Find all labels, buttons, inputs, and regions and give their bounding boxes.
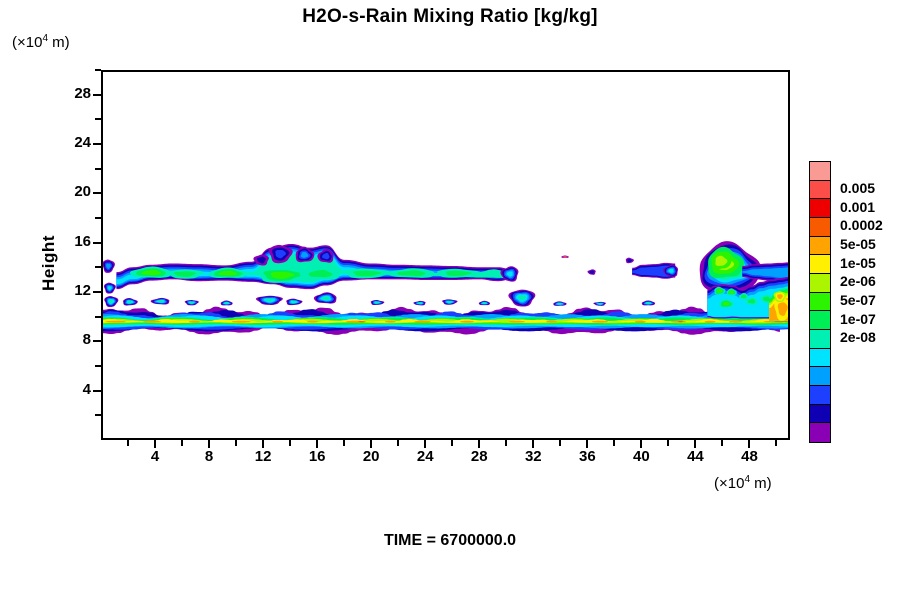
colorbar-cell — [810, 218, 830, 237]
x-axis-tick — [316, 440, 318, 448]
y-axis-minor-tick — [95, 168, 101, 170]
y-axis-minor-tick — [95, 414, 101, 416]
x-axis-minor-tick — [451, 440, 453, 446]
colorbar-cell — [810, 199, 830, 218]
x-unit-suffix: m) — [750, 475, 772, 492]
x-axis-minor-tick — [667, 440, 669, 446]
x-axis-tick-label: 40 — [621, 448, 661, 465]
colorbar-tick-label: 0.005 — [840, 180, 875, 196]
y-axis-tick-label: 16 — [39, 233, 91, 250]
colorbar-cell — [810, 162, 830, 181]
x-axis-tick — [424, 440, 426, 448]
x-axis-tick — [262, 440, 264, 448]
y-axis-tick-label: 28 — [39, 85, 91, 102]
x-axis-tick — [478, 440, 480, 448]
x-axis-tick-label: 12 — [243, 448, 283, 465]
x-axis-unit-label: (×104 m) — [714, 474, 772, 492]
x-axis-tick — [370, 440, 372, 448]
x-axis-minor-tick — [613, 440, 615, 446]
colorbar-cell — [810, 330, 830, 349]
contour-field — [103, 72, 788, 438]
x-axis-tick — [586, 440, 588, 448]
y-axis-unit-label: (×104 m) — [12, 33, 70, 51]
x-axis-minor-tick — [775, 440, 777, 446]
colorbar-tick-label: 2e-08 — [840, 329, 876, 345]
x-axis-tick — [154, 440, 156, 448]
y-axis-tick-label: 20 — [39, 183, 91, 200]
x-axis-minor-tick — [397, 440, 399, 446]
x-axis-tick-label: 8 — [189, 448, 229, 465]
y-axis-minor-tick — [95, 365, 101, 367]
x-axis-minor-tick — [559, 440, 561, 446]
x-axis-minor-tick — [181, 440, 183, 446]
colorbar — [809, 161, 831, 443]
y-axis-tick — [93, 390, 101, 392]
x-axis-tick-label: 28 — [459, 448, 499, 465]
y-axis-tick — [93, 143, 101, 145]
x-axis-tick-label: 16 — [297, 448, 337, 465]
x-axis-minor-tick — [289, 440, 291, 446]
y-axis-tick — [93, 242, 101, 244]
x-axis-tick — [640, 440, 642, 448]
colorbar-tick-label: 2e-06 — [840, 273, 876, 289]
colorbar-tick-label: 0.0002 — [840, 217, 883, 233]
colorbar-cell — [810, 349, 830, 368]
y-unit-prefix: (×10 — [12, 34, 42, 51]
colorbar-tick-label: 5e-05 — [840, 236, 876, 252]
colorbar-tick-label: 5e-07 — [840, 292, 876, 308]
x-axis-tick — [694, 440, 696, 448]
y-axis-tick — [93, 94, 101, 96]
y-axis-minor-tick — [95, 69, 101, 71]
x-axis-tick-label: 20 — [351, 448, 391, 465]
colorbar-cell — [810, 237, 830, 256]
x-axis-tick-label: 4 — [135, 448, 175, 465]
x-axis-minor-tick — [127, 440, 129, 446]
x-axis-minor-tick — [721, 440, 723, 446]
time-annotation: TIME = 6700000.0 — [0, 532, 900, 550]
x-axis-tick-label: 44 — [675, 448, 715, 465]
y-axis-minor-tick — [95, 266, 101, 268]
y-axis-minor-tick — [95, 316, 101, 318]
y-axis-tick — [93, 291, 101, 293]
colorbar-cell — [810, 181, 830, 200]
y-unit-suffix: m) — [48, 34, 70, 51]
y-axis-tick-label: 12 — [39, 282, 91, 299]
colorbar-cell — [810, 274, 830, 293]
x-axis-tick-label: 36 — [567, 448, 607, 465]
colorbar-cell — [810, 311, 830, 330]
colorbar-tick-label: 1e-07 — [840, 311, 876, 327]
plot-area — [101, 70, 790, 440]
y-axis-minor-tick — [95, 118, 101, 120]
x-axis-tick-label: 48 — [729, 448, 769, 465]
colorbar-tick-label: 0.001 — [840, 199, 875, 215]
x-axis-tick — [208, 440, 210, 448]
x-axis-tick — [532, 440, 534, 448]
colorbar-cell — [810, 367, 830, 386]
x-axis-minor-tick — [235, 440, 237, 446]
y-axis-title: Height — [39, 208, 59, 318]
colorbar-cell — [810, 405, 830, 424]
colorbar-cell — [810, 423, 830, 442]
x-axis-tick-label: 32 — [513, 448, 553, 465]
x-axis-minor-tick — [505, 440, 507, 446]
y-axis-minor-tick — [95, 217, 101, 219]
x-axis-minor-tick — [343, 440, 345, 446]
y-axis-tick — [93, 192, 101, 194]
y-axis-tick — [93, 340, 101, 342]
colorbar-tick-label: 1e-05 — [840, 255, 876, 271]
x-unit-prefix: (×10 — [714, 475, 744, 492]
y-axis-tick-label: 24 — [39, 134, 91, 151]
y-axis-tick-label: 8 — [39, 331, 91, 348]
page-title: H2O-s-Rain Mixing Ratio [kg/kg] — [0, 6, 900, 28]
y-axis-tick-label: 4 — [39, 381, 91, 398]
x-axis-tick-label: 24 — [405, 448, 445, 465]
colorbar-cell — [810, 255, 830, 274]
colorbar-cell — [810, 293, 830, 312]
x-axis-tick — [748, 440, 750, 448]
colorbar-cell — [810, 386, 830, 405]
figure-root: H2O-s-Rain Mixing Ratio [kg/kg] (×104 m)… — [0, 0, 900, 600]
